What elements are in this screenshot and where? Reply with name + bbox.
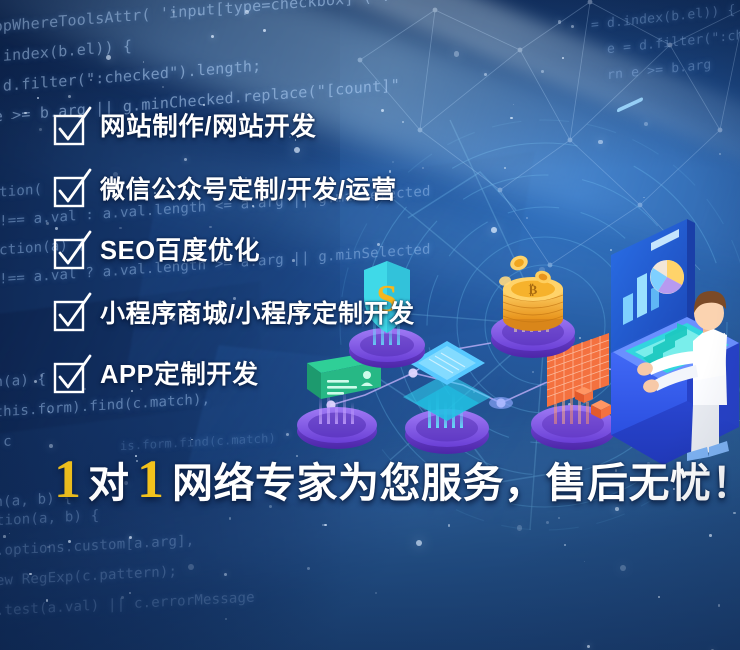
feature-label: 微信公众号定制/开发/运营: [100, 178, 397, 203]
feature-item-miniprogram[interactable]: 小程序商城/小程序定制开发: [52, 286, 692, 342]
headline-text: 网络专家为您服务，售后无忧！: [166, 463, 740, 504]
checkbox-checked-icon[interactable]: [52, 175, 83, 206]
promo-banner: .propWhereToolsAttr( 'input[type=checkbo…: [0, 0, 740, 650]
checkbox-checked-icon[interactable]: [52, 237, 83, 268]
headline-number-first: 1: [52, 452, 83, 506]
feature-label: APP定制开发: [100, 363, 259, 389]
feature-item-seo[interactable]: SEO百度优化: [52, 224, 692, 280]
feature-label: 小程序商城/小程序定制开发: [100, 302, 415, 327]
feature-item-app[interactable]: APP定制开发: [52, 348, 692, 404]
headline: 1 对 1 网络专家为您服务，售后无忧！: [52, 452, 740, 506]
feature-label: 网站制作/网站开发: [100, 115, 317, 141]
checkbox-checked-icon[interactable]: [52, 113, 83, 144]
feature-item-website[interactable]: 网站制作/网站开发: [52, 100, 692, 156]
feature-item-wechat[interactable]: 微信公众号定制/开发/运营: [52, 162, 692, 218]
headline-number-second: 1: [135, 452, 166, 506]
headline-connector: 对: [83, 463, 135, 504]
checkbox-checked-icon[interactable]: [52, 361, 83, 392]
checkbox-checked-icon[interactable]: [52, 299, 83, 330]
feature-list: 网站制作/网站开发 微信公众号定制/开发/运营 SEO百度优化: [52, 100, 692, 410]
feature-label: SEO百度优化: [100, 239, 260, 265]
